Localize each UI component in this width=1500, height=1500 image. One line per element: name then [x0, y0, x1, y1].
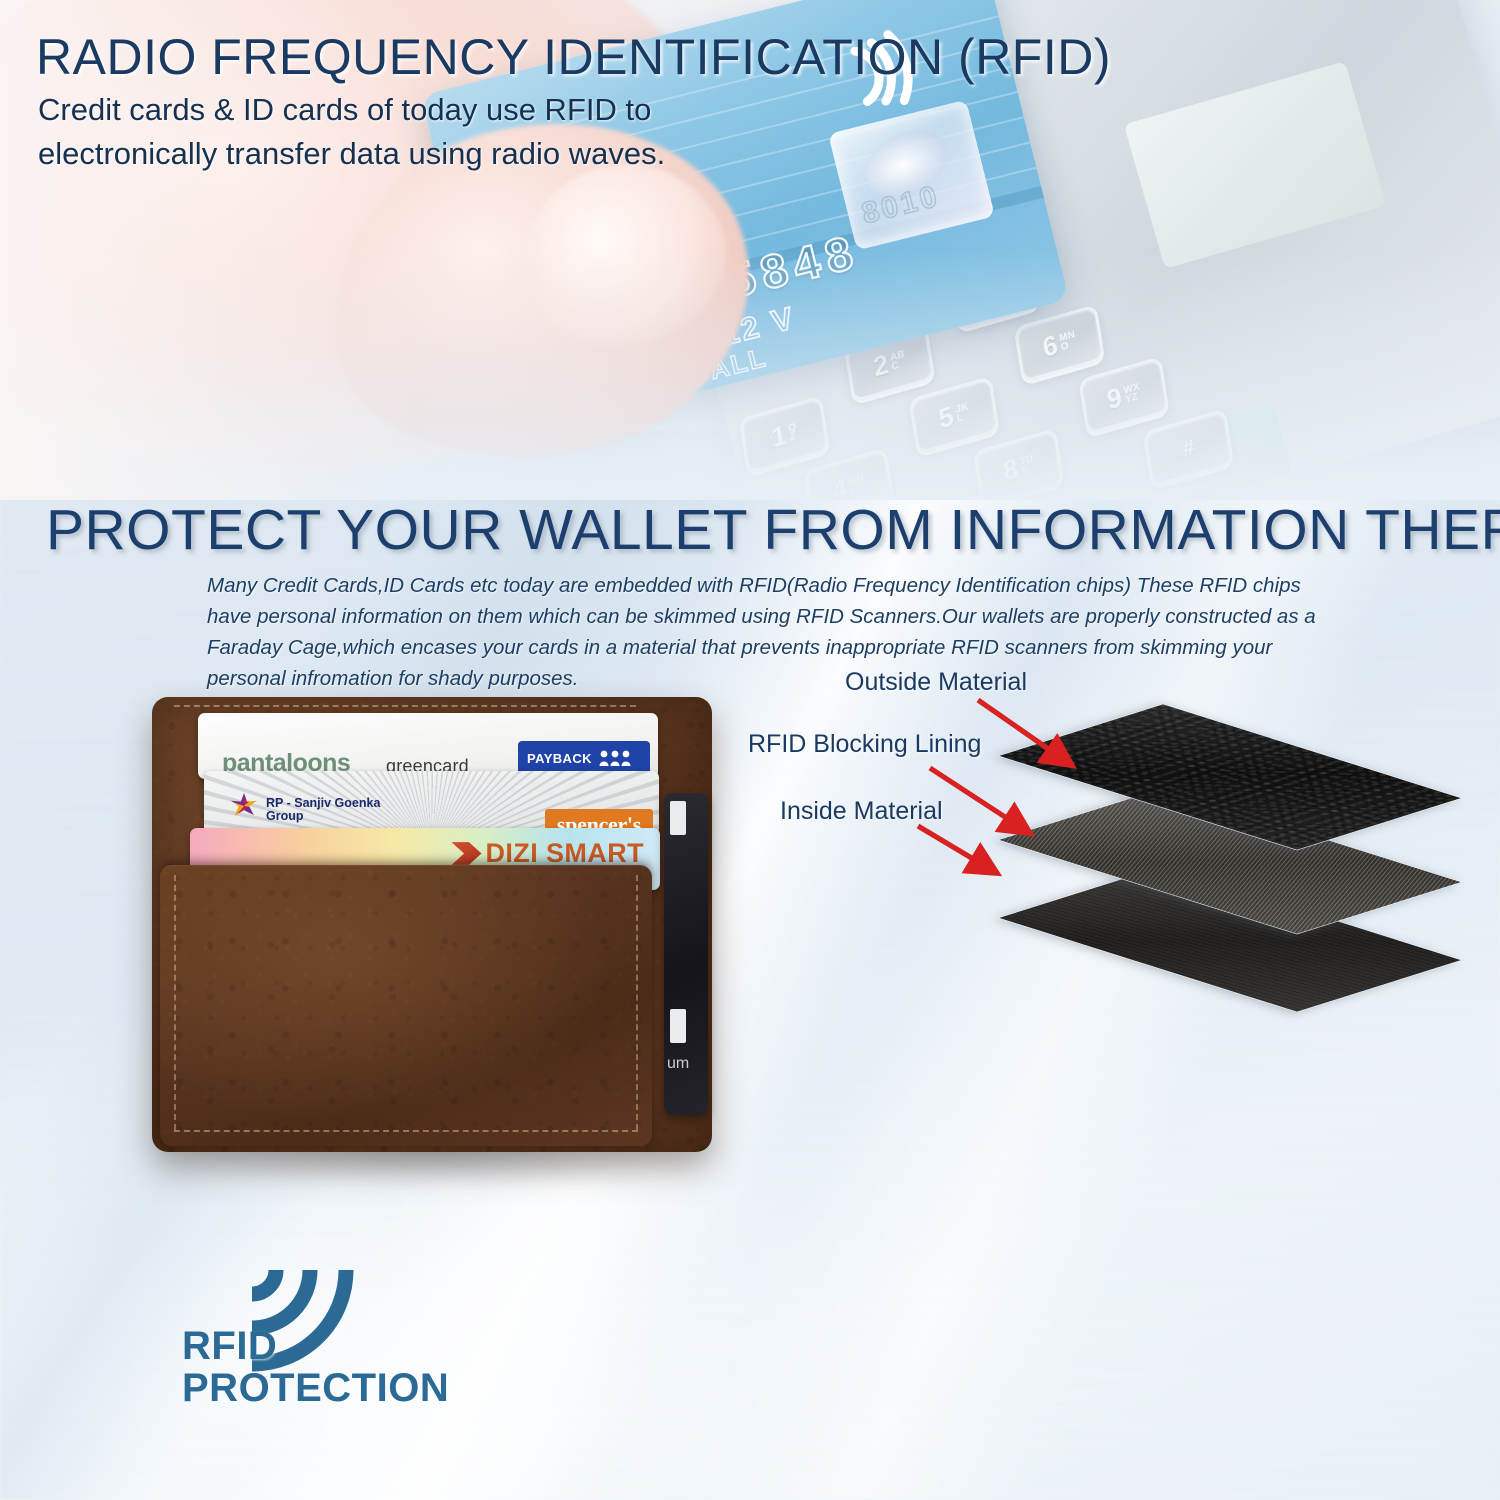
rfid-subtext-line-1: Credit cards & ID cards of today use RFI…	[38, 88, 665, 132]
wallet-front-panel	[160, 865, 652, 1146]
rfid-subtext: Credit cards & ID cards of today use RFI…	[38, 88, 665, 176]
material-arrows	[740, 660, 1300, 960]
stitch-right	[636, 875, 638, 1130]
arrow-outside-material	[978, 700, 1070, 764]
stitch-top	[174, 705, 636, 707]
leather-grain-texture-front	[160, 865, 652, 1146]
card-brand-label: RP - Sanjiv GoenkaGroup	[266, 797, 380, 823]
wallet-card-pantaloons: pantaloons greencard PAYBACK	[198, 713, 658, 779]
logo-line-1: RFID	[182, 1324, 277, 1369]
payback-people-icon	[598, 749, 632, 767]
arrow-lines	[918, 700, 1070, 872]
payback-label: PAYBACK	[527, 751, 592, 766]
arrow-inside-material	[918, 826, 995, 872]
main-heading: PROTECT YOUR WALLET FROM INFORMATION THE…	[46, 497, 1500, 563]
payback-badge: PAYBACK	[518, 741, 650, 775]
side-card-label: um	[667, 1055, 689, 1073]
wallet-product-photo: pantaloons greencard PAYBACK RP - Sanjiv…	[152, 697, 712, 1152]
stitch-bottom	[174, 1130, 638, 1132]
logo-line-2: PROTECTION	[182, 1366, 449, 1411]
wallet-side-black-card: um	[664, 793, 708, 1115]
wallet-card-spencers: RP - Sanjiv GoenkaGroup spencer's	[204, 771, 659, 835]
dizi-arrow-icon	[452, 839, 482, 869]
arrow-rfid-blocking-lining	[930, 768, 1028, 832]
rfid-protection-logo: RFID PROTECTION	[182, 1262, 482, 1427]
rfid-subtext-line-2: electronically transfer data using radio…	[38, 132, 665, 176]
infographic-page: 1QZ 2ABC 3DEF 4GHI 5JKL 6MNO 7PRS 8TUV 9…	[0, 0, 1500, 1500]
stitch-left	[174, 875, 176, 1130]
rfid-heading: RADIO FREQUENCY IDENTIFICATION (RFID)	[36, 28, 1111, 86]
